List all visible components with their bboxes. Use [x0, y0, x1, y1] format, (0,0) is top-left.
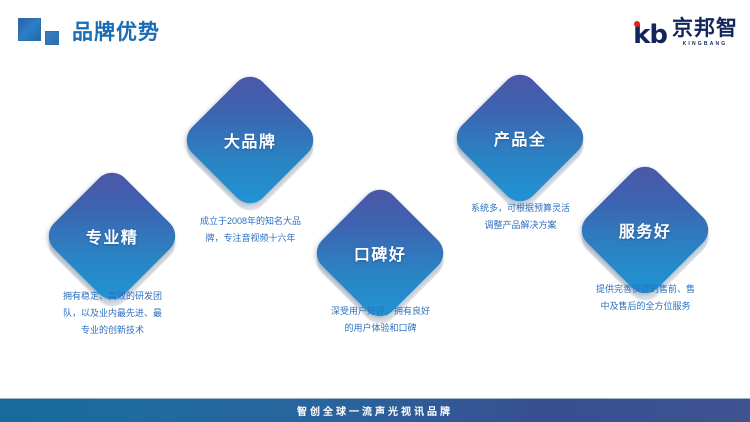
advantage-caption-5: 提供完善快捷的售前、售 中及售后的全方位服务 [538, 281, 750, 315]
caption-line: 拥有稳定、高效的研发团 [5, 288, 220, 305]
diamond-label-2: 大品牌 [224, 128, 277, 152]
caption-line: 深受用户好评，拥有良好 [273, 303, 488, 320]
advantage-caption-1: 拥有稳定、高效的研发团 队，以及业内最先进、最 专业的创新技术 [5, 288, 220, 339]
page-footer: 智创全球一流声光视讯品牌 [0, 398, 750, 422]
footer-slogan: 智创全球一流声光视讯品牌 [297, 403, 453, 418]
advantages-stage: 专业精 拥有稳定、高效的研发团 队，以及业内最先进、最 专业的创新技术 大品牌 … [0, 0, 750, 422]
diamond-shape-2[interactable]: 大品牌 [200, 90, 300, 190]
diamond-label-1: 专业精 [86, 224, 139, 248]
diamond-face-2[interactable]: 大品牌 [179, 69, 320, 210]
diamond-face-4[interactable]: 产品全 [449, 67, 590, 208]
caption-line: 专业的创新技术 [5, 322, 220, 339]
caption-line: 的用户体验和口碑 [273, 320, 488, 337]
diamond-label-5: 服务好 [619, 218, 672, 242]
advantage-caption-3: 深受用户好评，拥有良好 的用户体验和口碑 [273, 303, 488, 337]
diamond-shape-4[interactable]: 产品全 [470, 88, 570, 188]
diamond-shape-5[interactable]: 服务好 [595, 180, 695, 280]
caption-line: 成立于2008年的知名大品 [143, 213, 358, 230]
caption-line: 中及售后的全方位服务 [538, 298, 750, 315]
caption-line: 提供完善快捷的售前、售 [538, 281, 750, 298]
diamond-face-5[interactable]: 服务好 [574, 159, 715, 300]
diamond-label-3: 口碑好 [354, 241, 407, 265]
caption-line: 队，以及业内最先进、最 [5, 305, 220, 322]
diamond-label-4: 产品全 [494, 126, 547, 150]
